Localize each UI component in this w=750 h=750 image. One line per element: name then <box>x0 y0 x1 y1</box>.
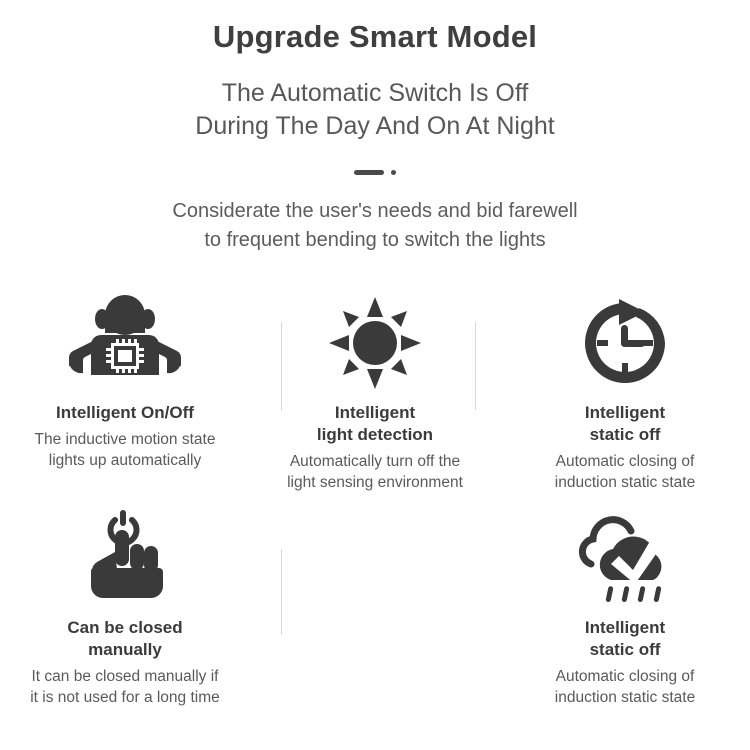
feature-description: Automatic closing of induction static st… <box>555 667 695 708</box>
subtitle-line-1: The Automatic Switch Is Off <box>0 77 750 110</box>
feature-item-intelligent-on-off: Intelligent On/Off The inductive motion … <box>0 294 250 509</box>
feature-desc-line-1: Automatically turn off the <box>287 452 463 472</box>
page-subtitle: The Automatic Switch Is Off During The D… <box>0 57 750 144</box>
feature-title-line-1: Intelligent On/Off <box>56 402 194 424</box>
page-title: Upgrade Smart Model <box>0 8 750 57</box>
divider-dot <box>391 170 396 175</box>
feature-desc-line-1: The inductive motion state <box>35 430 216 450</box>
feature-title-line-1: Intelligent <box>317 402 433 424</box>
feature-title-line-2: manually <box>67 639 182 661</box>
column-divider-bottom <box>281 549 282 635</box>
feature-title: Intelligent On/Off <box>56 402 194 424</box>
feature-desc-line-2: light sensing environment <box>287 473 463 493</box>
tagline-line-2: to frequent bending to switch the lights <box>0 226 750 254</box>
dash-dot-divider-icon <box>0 159 750 185</box>
tagline: Considerate the user's needs and bid far… <box>0 185 750 254</box>
feature-description: Automatic closing of induction static st… <box>555 452 695 493</box>
sun-icon <box>327 294 423 392</box>
subtitle-line-2: During The Day And On At Night <box>0 110 750 143</box>
feature-desc-line-2: induction static state <box>555 473 695 493</box>
feature-desc-line-1: It can be closed manually if <box>30 667 220 687</box>
feature-description: Automatically turn off the light sensing… <box>287 452 463 493</box>
clock-refresh-icon <box>577 294 673 392</box>
feature-title-line-1: Intelligent <box>585 617 665 639</box>
feature-title-line-2: static off <box>585 424 665 446</box>
feature-desc-line-1: Automatic closing of <box>555 667 695 687</box>
tagline-line-1: Considerate the user's needs and bid far… <box>0 197 750 225</box>
feature-title: Can be closed manually <box>67 617 182 661</box>
feature-desc-line-2: lights up automatically <box>35 451 216 471</box>
feature-row-top: Intelligent On/Off The inductive motion … <box>0 294 750 509</box>
feature-title-line-2: light detection <box>317 424 433 446</box>
feature-desc-line-2: induction static state <box>555 688 695 708</box>
feature-description: The inductive motion state lights up aut… <box>35 430 216 471</box>
feature-description: It can be closed manually if it is not u… <box>30 667 220 708</box>
divider-dash <box>354 170 384 175</box>
feature-item-light-detection: Intelligent light detection Automaticall… <box>250 294 500 509</box>
feature-desc-line-1: Automatic closing of <box>555 452 695 472</box>
rain-cloud-check-icon <box>567 509 683 607</box>
robot-chip-icon <box>61 294 189 392</box>
feature-title: Intelligent static off <box>585 617 665 661</box>
header: Upgrade Smart Model The Automatic Switch… <box>0 0 750 143</box>
feature-row-bottom: Can be closed manually It can be closed … <box>0 509 750 724</box>
feature-title-line-1: Can be closed <box>67 617 182 639</box>
hand-power-icon <box>77 509 173 607</box>
feature-grid: Intelligent On/Off The inductive motion … <box>0 294 750 724</box>
column-divider-right <box>475 322 476 410</box>
feature-title-line-2: static off <box>585 639 665 661</box>
feature-title: Intelligent static off <box>585 402 665 446</box>
feature-item-static-off-top: Intelligent static off Automatic closing… <box>500 294 750 509</box>
column-divider-left <box>281 322 282 410</box>
feature-item-static-off-bottom: Intelligent static off Automatic closing… <box>500 509 750 724</box>
feature-title-line-1: Intelligent <box>585 402 665 424</box>
feature-title: Intelligent light detection <box>317 402 433 446</box>
feature-item-closed-manually: Can be closed manually It can be closed … <box>0 509 250 724</box>
feature-desc-line-2: it is not used for a long time <box>30 688 220 708</box>
